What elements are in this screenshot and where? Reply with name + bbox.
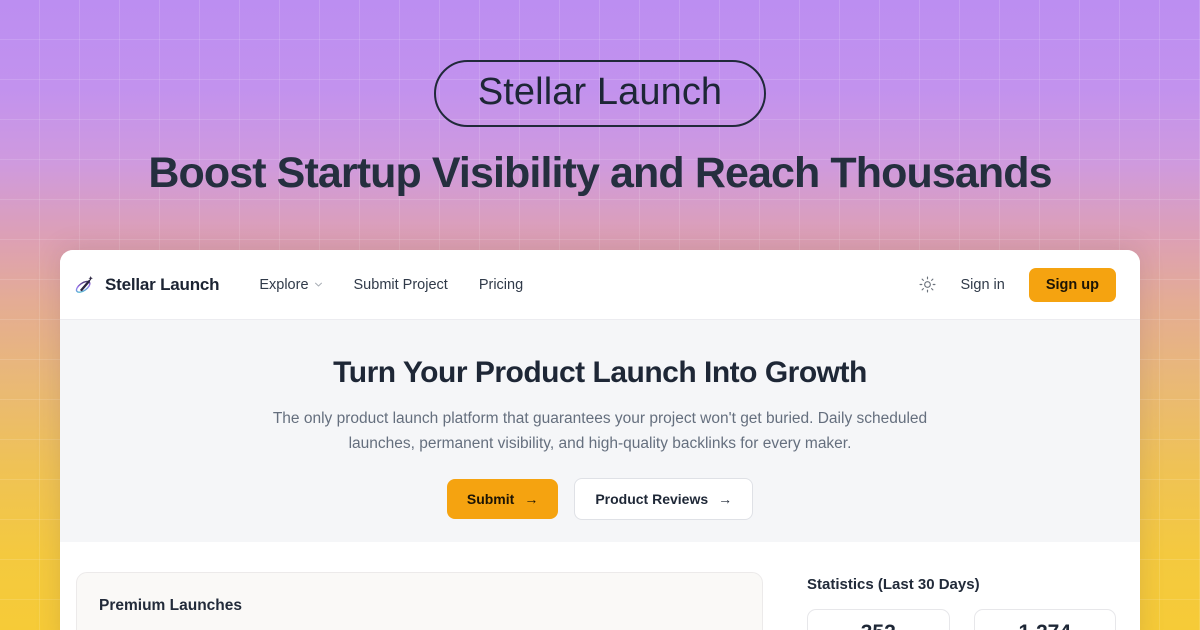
statistics-title: Statistics (Last 30 Days) [807,576,1116,593]
stat-value: 1,274 [1018,621,1071,630]
product-reviews-button-label: Product Reviews [595,491,708,507]
statistics-card-row: 352 Launches 1,274 Upvotes [807,609,1116,630]
sun-icon[interactable] [919,276,936,293]
arrow-right-icon: → [524,492,538,506]
nav-right-group: Sign in Sign up [919,268,1116,302]
nav-link-submit-project[interactable]: Submit Project [354,277,448,293]
premium-launches-title: Premium Launches [99,597,740,615]
signin-link[interactable]: Sign in [960,277,1004,293]
nav-links: Explore Submit Project Pricing [259,277,523,293]
hero-subtitle: The only product launch platform that gu… [250,406,950,456]
stat-value: 352 [861,621,896,630]
stat-card: 352 Launches [807,609,950,630]
rocket-icon [74,274,96,296]
submit-button[interactable]: Submit → [447,479,558,519]
hero-section: Turn Your Product Launch Into Growth The… [60,320,1140,542]
banner-title: Boost Startup Visibility and Reach Thous… [148,149,1051,198]
brand-name: Stellar Launch [105,275,219,295]
nav-link-explore[interactable]: Explore [259,277,322,293]
banner: Stellar Launch Boost Startup Visibility … [0,0,1200,198]
submit-button-label: Submit [467,491,514,507]
app-preview-card: Stellar Launch Explore Submit Project Pr… [60,250,1140,630]
signup-button[interactable]: Sign up [1029,268,1116,302]
brand-logo[interactable]: Stellar Launch [74,274,219,296]
premium-launches-panel: Premium Launches [76,572,763,630]
nav-link-label: Submit Project [354,277,448,293]
nav-link-label: Pricing [479,277,523,293]
hero-title: Turn Your Product Launch Into Growth [333,356,867,390]
nav-link-label: Explore [259,277,308,293]
stat-card: 1,274 Upvotes [974,609,1117,630]
nav-link-pricing[interactable]: Pricing [479,277,523,293]
hero-cta-row: Submit → Product Reviews → [447,478,753,520]
product-reviews-button[interactable]: Product Reviews → [574,478,753,520]
banner-badge: Stellar Launch [434,60,766,127]
statistics-panel: Statistics (Last 30 Days) 352 Launches 1… [807,572,1116,630]
site-navbar: Stellar Launch Explore Submit Project Pr… [60,250,1140,320]
lower-section: Premium Launches Statistics (Last 30 Day… [60,542,1140,630]
chevron-down-icon [314,280,323,289]
arrow-right-icon: → [718,492,732,506]
premium-launches-card[interactable]: Premium Launches [76,572,763,630]
